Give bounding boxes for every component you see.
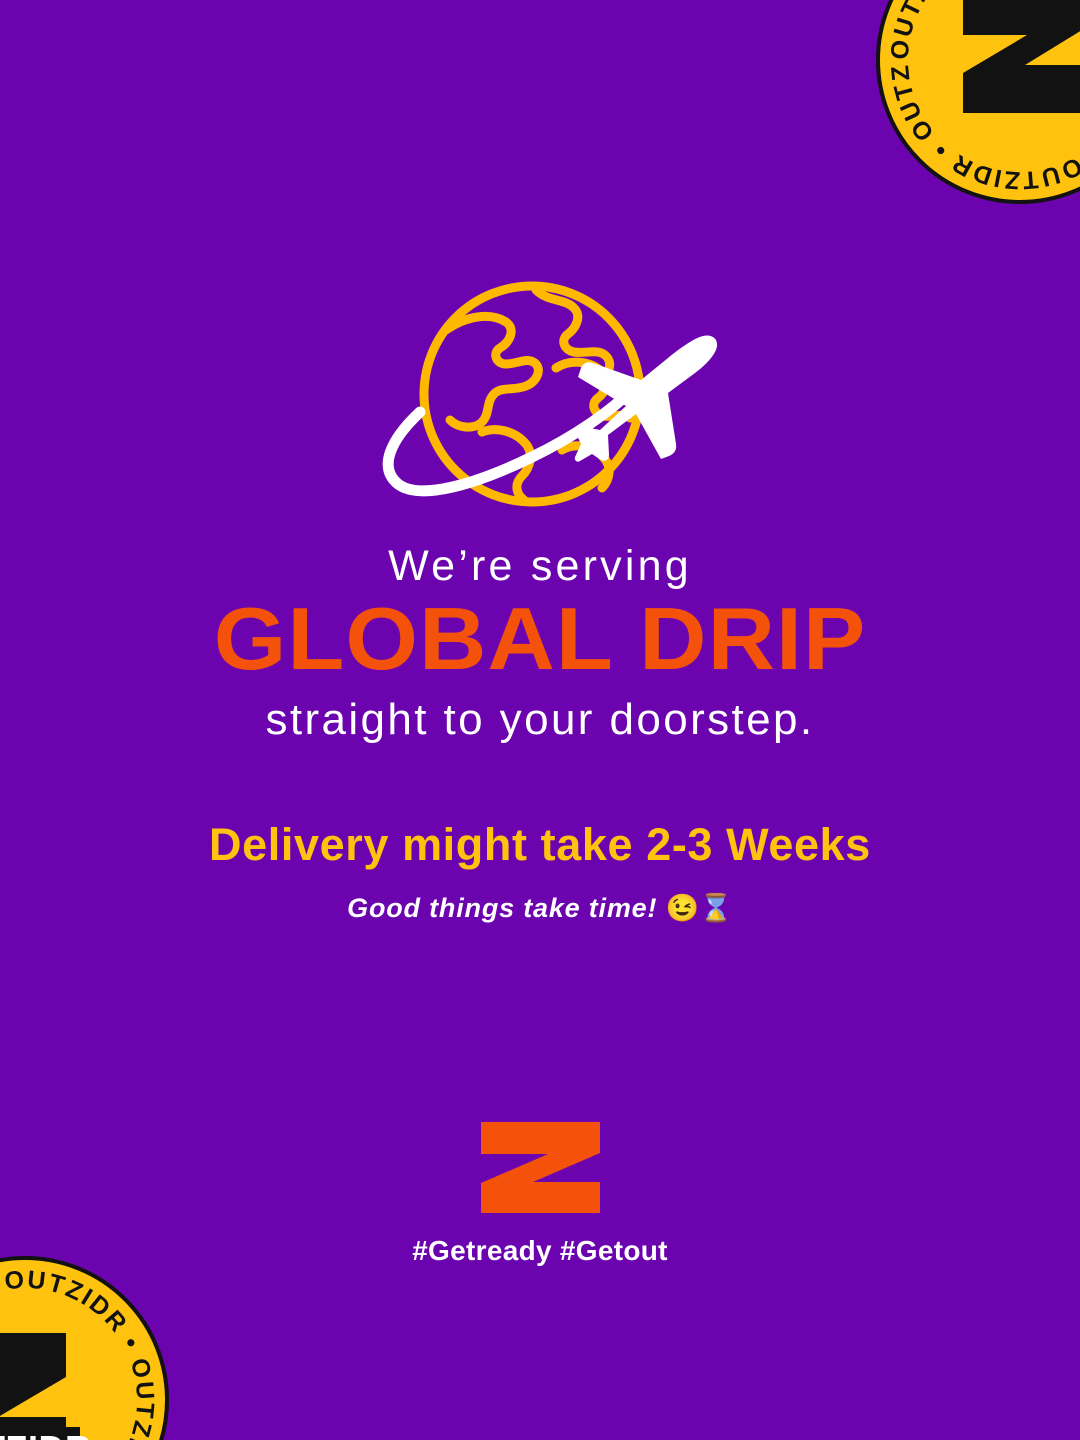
page-title: GLOBAL DRIP [0, 594, 1080, 684]
svg-text:OUTZIDR: OUTZIDR [0, 1428, 91, 1440]
badge-wordmark: OUTZIDR [0, 1427, 91, 1440]
winking-face-icon: 😉 [666, 893, 700, 923]
headline-block: We’re serving GLOBAL DRIP straight to yo… [0, 545, 1080, 742]
outzidr-z-logomark [478, 1120, 603, 1215]
delivery-time-text: Delivery might take 2-3 Weeks [0, 822, 1080, 867]
globe-airplane-illustration [350, 272, 730, 522]
outzidr-badge-bottom-left: OUTZIDR • OUTZIDR • OUTZIDR • OUTZIDR • … [0, 1255, 170, 1440]
reassurance-label: Good things take time! [347, 893, 657, 923]
eyebrow-text: We’re serving [0, 545, 1080, 588]
subheadline-text: straight to your doorstep. [0, 698, 1080, 742]
hourglass-icon: ⌛ [699, 893, 733, 923]
hashtags-text: #Getready #Getout [0, 1235, 1080, 1267]
outzidr-badge-top-right: OUTZIDR • OUTZIDR • OUTZIDR • OUTZIDR • … [875, 0, 1080, 205]
delivery-notice-block: Delivery might take 2-3 Weeks Good thing… [0, 822, 1080, 922]
promo-poster: OUTZIDR • OUTZIDR • OUTZIDR • OUTZIDR • … [0, 0, 1080, 1440]
footer-brand-block: #Getready #Getout [0, 1120, 1080, 1267]
delivery-reassurance-text: Good things take time! 😉⌛ [0, 895, 1080, 922]
